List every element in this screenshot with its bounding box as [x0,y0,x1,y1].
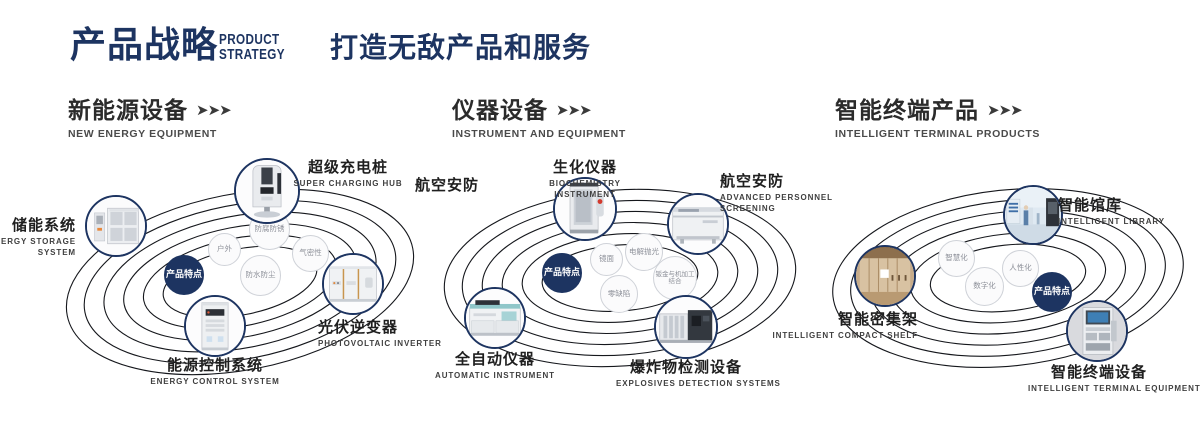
label-en: EXPLOSIVES DETECTION SYSTEMS [616,378,756,389]
node-energy-storage-system[interactable] [85,195,147,257]
section-title-new-energy: 新能源设备➤➤➤ NEW ENERGY EQUIPMENT [68,97,231,140]
node-energy-control-system[interactable] [184,295,246,357]
label-automatic-instrument: 全自动仪器 AUTOMATIC INSTRUMENT [428,350,562,381]
label-cn: 航空安防 [415,176,505,194]
label-en: SUPER CHARGING HUB [288,178,408,189]
chevron-triple-icon: ➤➤➤ [556,97,591,123]
label-en: INTELLIGENT COMPACT SHELF [768,330,918,341]
label-aviation-security-extra: 航空安防 [415,176,505,194]
section-title-cn: 新能源设备➤➤➤ [68,97,231,124]
cluster-new-energy-equipment: 产品特点 户外 防腐防锈 防水防尘 气密性 储能系统 ENERGY STORAG… [40,160,440,410]
label-cn: 全自动仪器 [428,350,562,368]
label-biochemistry-instrument: 生化仪器 BIOCHEMISTRY INSTRUMENT [524,158,646,200]
feature-bubble: 钣金与机加工结合 [653,256,697,300]
label-cn: 超级充电桩 [288,158,408,176]
page-title-en-line2: STRATEGY [219,47,285,62]
personnel-screening-photo [669,195,727,253]
core-bubble: 产品特点 [1032,272,1072,312]
label-intelligent-compact-shelf: 智能密集架 INTELLIGENT COMPACT SHELF [768,310,918,341]
cluster-intelligent-terminal-products: 智慧化 数字化 人性化 产品特点 智能馆库 INTELLIGENT LIBRAR… [810,160,1200,410]
label-intelligent-library: 智能馆库 INTELLIGENT LIBRARY [1058,196,1188,227]
section-title-en: INTELLIGENT TERMINAL PRODUCTS [835,128,1040,140]
label-en: AUTOMATIC INSTRUMENT [428,370,562,381]
label-en: INTELLIGENT TERMINAL EQUIPMENT [1028,383,1170,394]
page-subtitle: 打造无敌产品和服务 [330,32,591,64]
photovoltaic-inverter-photo [324,255,382,313]
label-cn: 储能系统 [0,216,76,234]
page-title-en: PRODUCT STRATEGY [219,32,285,62]
label-cn: 爆炸物检测设备 [616,358,756,376]
label-en: BIOCHEMISTRY INSTRUMENT [524,178,646,200]
core-bubble: 产品特点 [164,255,204,295]
feature-bubble: 防水防尘 [240,255,281,296]
label-intelligent-terminal-equipment: 智能终端设备 INTELLIGENT TERMINAL EQUIPMENT [1028,363,1170,394]
label-explosives-detection-systems: 爆炸物检测设备 EXPLOSIVES DETECTION SYSTEMS [616,358,756,389]
label-cn: 智能终端设备 [1028,363,1170,381]
intelligent-compact-shelf-photo [856,247,914,305]
cluster-instrument-and-equipment: 产品特点 镜面 电解抛光 零缺陷 钣金与机加工结合 生化仪器 BIOCHEMIS… [420,160,820,410]
label-cn: 生化仪器 [524,158,646,176]
node-automatic-instrument[interactable] [464,287,526,349]
label-en: ENERGY STORAGE SYSTEM [0,236,76,258]
chevron-triple-icon: ➤➤➤ [196,97,231,123]
label-en: ENERGY CONTROL SYSTEM [145,376,285,387]
label-cn: 能源控制系统 [145,356,285,374]
page-title-en-line1: PRODUCT [219,32,285,47]
energy-storage-cabinet-photo [87,197,145,255]
section-title-en: INSTRUMENT AND EQUIPMENT [452,128,626,140]
intelligent-library-photo [1005,187,1061,243]
label-cn: 智能密集架 [768,310,918,328]
section-title-intelligent-terminal: 智能终端产品➤➤➤ INTELLIGENT TERMINAL PRODUCTS [835,97,1040,140]
core-bubble: 产品特点 [542,253,582,293]
node-explosives-detection-systems[interactable] [654,295,718,359]
section-title-instrument: 仪器设备➤➤➤ INSTRUMENT AND EQUIPMENT [452,97,626,140]
label-super-charging-hub: 超级充电桩 SUPER CHARGING HUB [288,158,408,189]
page-header: 产品战略 PRODUCT STRATEGY 打造无敌产品和服务 [0,0,1200,90]
chevron-triple-icon: ➤➤➤ [987,97,1022,123]
node-photovoltaic-inverter[interactable] [322,253,384,315]
node-intelligent-compact-shelf[interactable] [854,245,916,307]
feature-bubble: 智慧化 [938,240,975,277]
section-title-en: NEW ENERGY EQUIPMENT [68,128,231,140]
label-energy-control-system: 能源控制系统 ENERGY CONTROL SYSTEM [145,356,285,387]
section-title-cn: 仪器设备➤➤➤ [452,97,626,124]
label-en: INTELLIGENT LIBRARY [1058,216,1188,227]
feature-bubble: 户外 [208,233,241,266]
label-energy-storage-system: 储能系统 ENERGY STORAGE SYSTEM [0,216,76,258]
feature-bubble: 数字化 [965,267,1004,306]
label-cn: 智能馆库 [1058,196,1188,214]
energy-control-cabinet-photo [186,297,244,355]
product-strategy-infographic: 产品战略 PRODUCT STRATEGY 打造无敌产品和服务 新能源设备➤➤➤… [0,0,1200,422]
feature-bubble: 零缺陷 [600,275,638,313]
feature-bubble: 镜面 [590,243,623,276]
automatic-instrument-photo [466,289,524,347]
node-intelligent-library[interactable] [1003,185,1063,245]
section-title-cn: 智能终端产品➤➤➤ [835,97,1040,124]
explosives-detection-photo [656,297,716,357]
intelligent-terminal-photo [1068,302,1126,360]
page-title-cn: 产品战略 [70,26,218,66]
node-intelligent-terminal-equipment[interactable] [1066,300,1128,362]
